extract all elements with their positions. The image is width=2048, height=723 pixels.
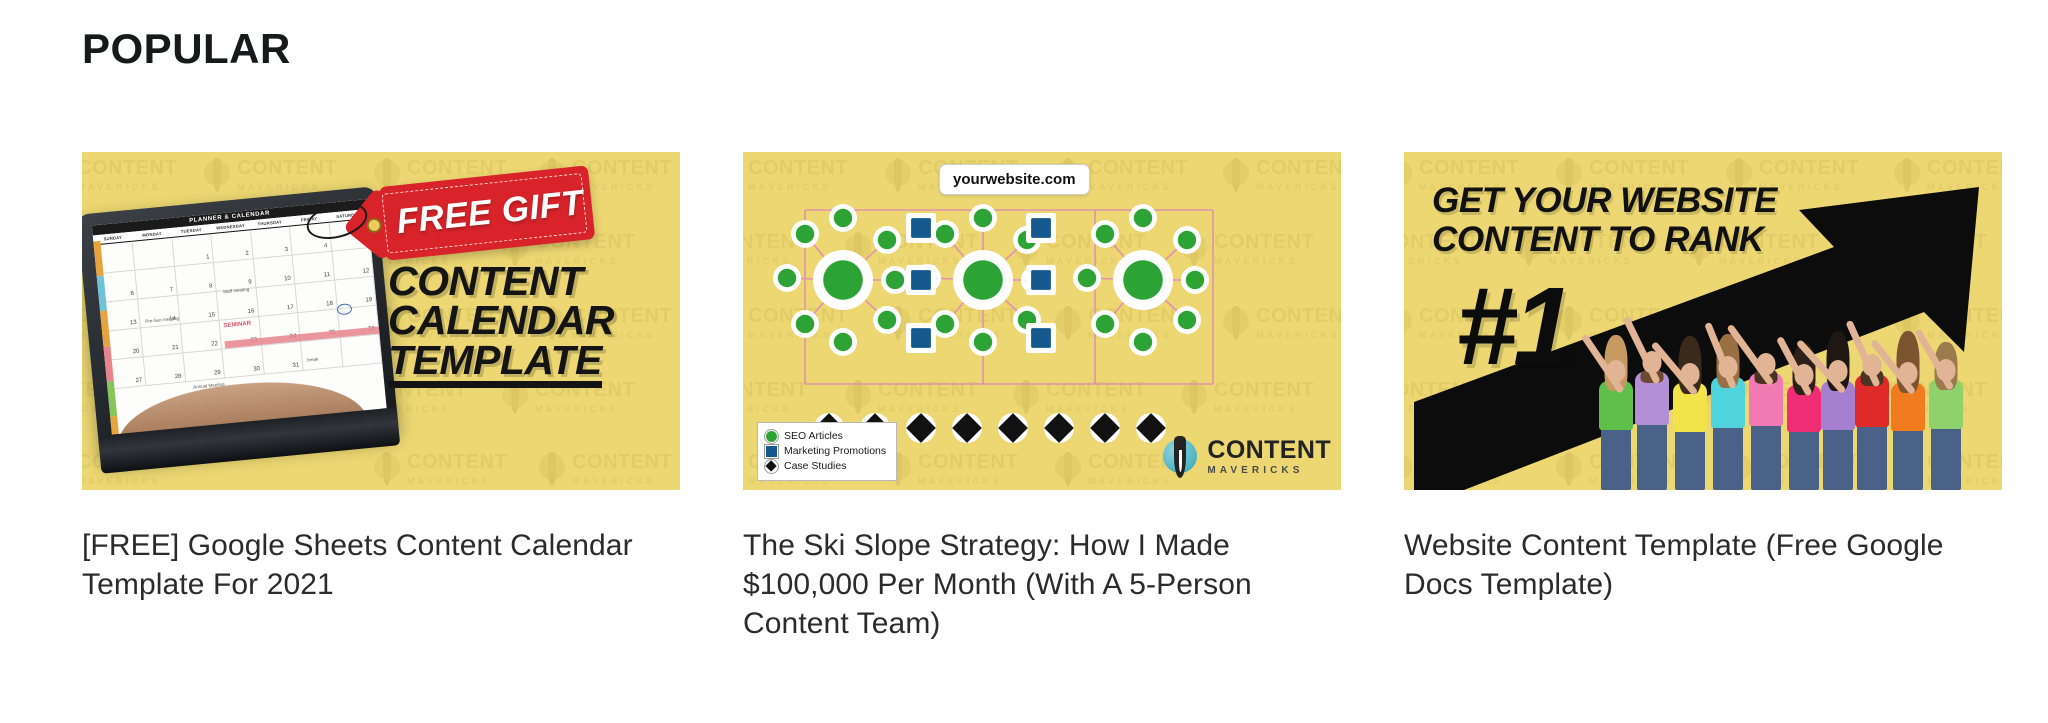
calendar-cell: [133, 238, 175, 271]
calendar-cell: 8: [175, 263, 217, 296]
calendar-cell: 31: [262, 342, 304, 375]
seo-article-node: [1129, 204, 1157, 232]
calendar-cell: 28: [144, 353, 186, 386]
calendar-cell: 30: [223, 346, 265, 379]
marketing-promotions-marker-icon: [765, 445, 778, 458]
seo-article-node: [1129, 328, 1157, 356]
popular-section: POPULAR CONTENTMAVERICKS CONTENTMAVERICK…: [0, 0, 2048, 723]
seo-article-node: [829, 328, 857, 356]
legend-label: Case Studies: [784, 459, 846, 474]
seo-articles-marker-icon: [765, 430, 778, 443]
legend-item: SEO Articles: [765, 429, 886, 444]
card-title[interactable]: The Ski Slope Strategy: How I Made $100,…: [743, 526, 1341, 643]
pen-nib-icon: [202, 156, 232, 196]
legend-item: Marketing Promotions: [765, 444, 886, 459]
seo-article-node: [1091, 220, 1119, 248]
person-silhouette: [1888, 343, 1928, 490]
seo-article-node: [1173, 306, 1201, 334]
tag-eyelet: [366, 217, 382, 233]
calendar-cell: 7: [136, 267, 178, 300]
logo-primary-text: CONTENT: [1207, 438, 1331, 463]
marketing-promotion-node: [1026, 213, 1056, 243]
hub-node: [1113, 250, 1173, 310]
popular-card-grid: CONTENTMAVERICKS CONTENTMAVERICKS CONTEN…: [82, 152, 2002, 643]
crowd-of-people-photo: [1594, 280, 1999, 490]
calendar-cell: 9: [214, 259, 256, 292]
calendar-cell: 21: [141, 325, 183, 358]
calendar-cell: 3: [251, 227, 293, 260]
free-gift-tag: FREE GIFT: [379, 165, 596, 261]
marketing-promotion-node: [1026, 323, 1056, 353]
calendar-cell: 15: [178, 292, 220, 325]
seo-article-node: [873, 226, 901, 254]
headline-line-1: CONTENT: [388, 262, 678, 301]
seo-article-node: [1091, 310, 1119, 338]
headline-line-3: TEMPLATE: [388, 341, 602, 388]
page-title: POPULAR: [82, 26, 291, 72]
calendar-cell: 1: [172, 234, 214, 267]
calendar-cell: 11: [293, 252, 335, 285]
website-url-chip: yourwebsite.com: [939, 164, 1090, 195]
case-study-node: [1090, 413, 1120, 443]
person-silhouette: [1746, 330, 1786, 490]
case-study-node: [952, 413, 982, 443]
person-silhouette: [1926, 338, 1966, 490]
headline-line-1: GET YOUR WEBSITE: [1432, 182, 1852, 221]
card-ski-slope-strategy[interactable]: CONTENTMAVERICKS CONTENTMAVERICKS CONTEN…: [743, 152, 1341, 643]
seo-article-node: [1073, 264, 1101, 292]
marketing-promotion-node: [906, 213, 936, 243]
marketing-promotion-node: [906, 323, 936, 353]
calendar-cell: 29: [183, 350, 225, 383]
headline-line-2: CALENDAR: [388, 301, 678, 340]
legend-label: SEO Articles: [784, 429, 843, 444]
thumbnail-headline: CONTENT CALENDAR TEMPLATE: [388, 262, 678, 388]
person-silhouette: [1708, 335, 1748, 490]
card-title[interactable]: Website Content Template (Free Google Do…: [1404, 526, 2002, 604]
seo-article-node: [969, 328, 997, 356]
case-study-node: [1044, 413, 1074, 443]
seo-article-node: [969, 204, 997, 232]
card-content-calendar-template[interactable]: CONTENTMAVERICKS CONTENTMAVERICKS CONTEN…: [82, 152, 680, 643]
card-website-content-template[interactable]: CONTENTMAVERICKS CONTENTMAVERICKS CONTEN…: [1404, 152, 2002, 643]
case-study-node: [906, 413, 936, 443]
case-studies-marker-icon: [765, 460, 778, 473]
seo-article-node: [1173, 226, 1201, 254]
case-study-node: [998, 413, 1028, 443]
seo-article-node: [873, 306, 901, 334]
seo-article-node: [881, 266, 909, 294]
pen-nib-icon: [537, 450, 567, 490]
person-silhouette: [1670, 344, 1710, 490]
rank-number-label: #1: [1456, 280, 1570, 374]
calendar-cell: [301, 338, 343, 371]
content-mavericks-logo: CONTENT MAVERICKS: [1160, 434, 1331, 480]
pen-nib-icon: [1160, 434, 1200, 480]
card-title[interactable]: [FREE] Google Sheets Content Calendar Te…: [82, 526, 680, 604]
pen-nib-icon: [372, 450, 402, 490]
marketing-promotion-node: [1026, 265, 1056, 295]
thumbnail-headline: GET YOUR WEBSITE CONTENT TO RANK: [1432, 182, 1852, 259]
calendar-cell: 2: [211, 230, 253, 263]
card-thumbnail-image[interactable]: CONTENTMAVERICKS CONTENTMAVERICKS CONTEN…: [743, 152, 1341, 490]
seo-article-node: [1181, 266, 1209, 294]
person-silhouette: [1596, 340, 1636, 490]
headline-line-2: CONTENT TO RANK: [1432, 221, 1852, 260]
card-thumbnail-image[interactable]: CONTENTMAVERICKS CONTENTMAVERICKS CONTEN…: [82, 152, 680, 490]
diagram-legend: SEO Articles Marketing Promotions Case S…: [757, 422, 897, 481]
calendar-cell: 17: [256, 284, 298, 317]
tag-label: FREE GIFT: [379, 165, 596, 261]
seo-article-node: [773, 264, 801, 292]
calendar-cell: 22: [181, 321, 223, 354]
marketing-promotion-node: [906, 265, 936, 295]
card-thumbnail-image[interactable]: CONTENTMAVERICKS CONTENTMAVERICKS CONTEN…: [1404, 152, 2002, 490]
seo-article-node: [829, 204, 857, 232]
calendar-cell: 10: [253, 255, 295, 288]
legend-label: Marketing Promotions: [784, 444, 886, 459]
logo-secondary-text: MAVERICKS: [1207, 466, 1331, 476]
seo-article-node: [791, 220, 819, 248]
calendar-cell: [340, 334, 382, 367]
calendar-cell: 12: [332, 248, 374, 281]
legend-item: Case Studies: [765, 459, 886, 474]
seo-article-node: [791, 310, 819, 338]
hub-node: [813, 250, 873, 310]
calendar-cell: 18: [295, 281, 337, 314]
hub-node: [953, 250, 1013, 310]
